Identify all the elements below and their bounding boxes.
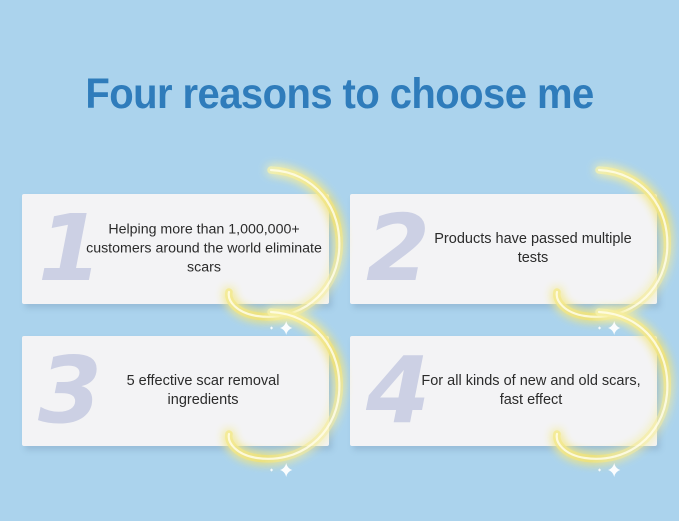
poster-canvas: Four reasons to choose me 1 Helping more… (0, 0, 679, 521)
sparkle-star-icon-3 (262, 459, 296, 486)
reason-text-2: Products have passed multiple tests (423, 230, 643, 268)
reason-card-4: 4 For all kinds of new and old scars, fa… (350, 336, 657, 446)
reason-card-3-inner: 3 5 effective scar removal ingredients (22, 336, 329, 446)
reason-text-1: Helping more than 1,000,000+ customers a… (81, 221, 327, 278)
reason-text-4: For all kinds of new and old scars, fast… (415, 372, 647, 410)
reason-card-4-inner: 4 For all kinds of new and old scars, fa… (350, 336, 657, 446)
reason-card-1-inner: 1 Helping more than 1,000,000+ customers… (22, 194, 329, 304)
reason-text-3: 5 effective scar removal ingredients (95, 372, 311, 410)
reason-card-2-inner: 2 Products have passed multiple tests (350, 194, 657, 304)
sparkle-star-icon-4 (590, 459, 624, 486)
reason-card-3: 3 5 effective scar removal ingredients (22, 336, 329, 446)
reason-card-1: 1 Helping more than 1,000,000+ customers… (22, 194, 329, 304)
reason-card-2: 2 Products have passed multiple tests (350, 194, 657, 304)
page-title: Four reasons to choose me (24, 68, 655, 120)
